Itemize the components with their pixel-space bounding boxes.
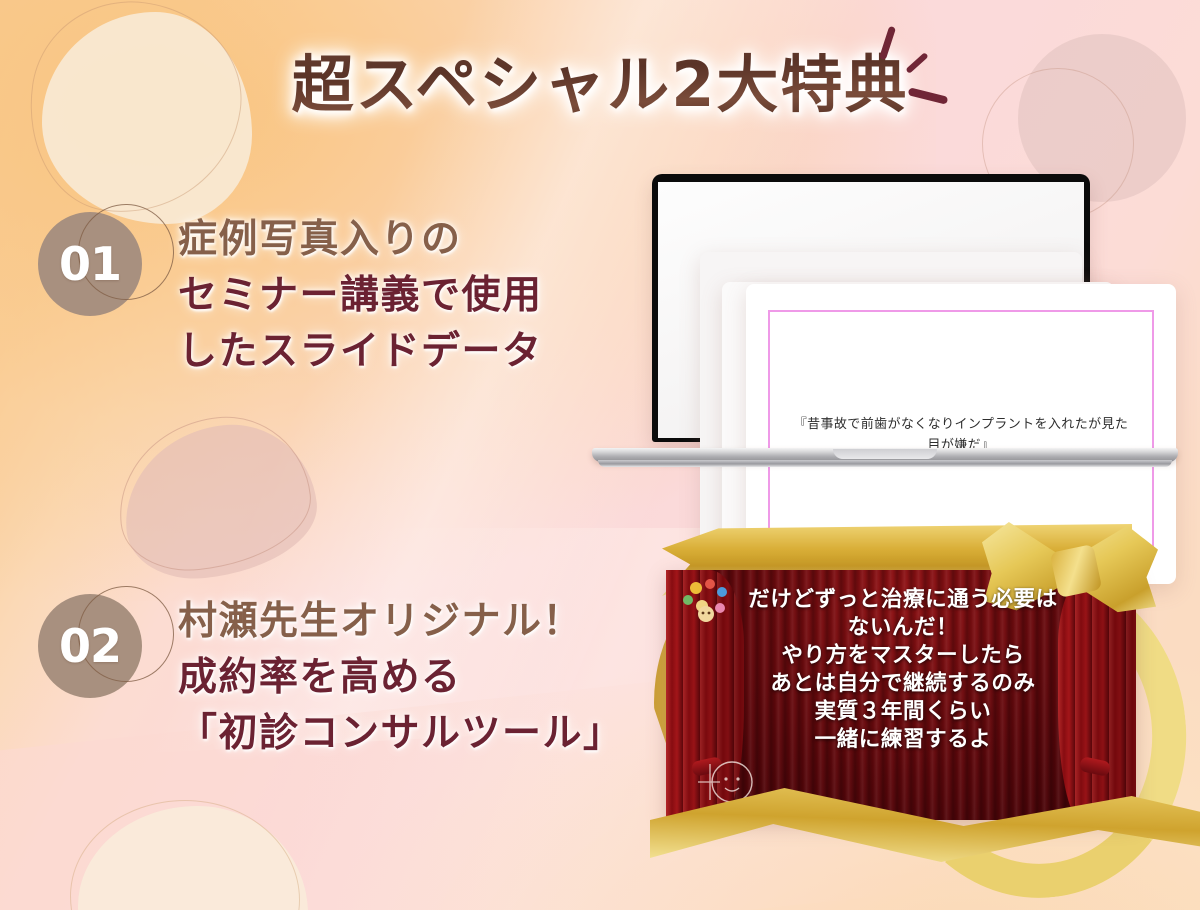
- benefit-line: 「初診コンサルツール」: [178, 706, 624, 762]
- benefit-line: セミナー講義で使用: [178, 268, 543, 324]
- benefit-item-02: 02 村瀬先生オリジナル！ 成約率を高める 「初診コンサルツール」: [34, 588, 624, 761]
- card-line: 実質３年間くらい: [718, 698, 1088, 726]
- promo-banner: 超スペシャル2大特典 01 症例写真入りの セミナー講義で使用 したスライドデー…: [0, 0, 1200, 910]
- benefit-number-badge-01: 01: [34, 206, 160, 332]
- benefit-text-02: 村瀬先生オリジナル！ 成約率を高める 「初診コンサルツール」: [178, 588, 624, 761]
- red-curtain-card: だけどずっと治療に通う必要は ないんだ！ やり方をマスターしたら あとは自分で継…: [666, 570, 1136, 820]
- gift-card-illustration: だけどずっと治療に通う必要は ないんだ！ やり方をマスターしたら あとは自分で継…: [636, 508, 1200, 888]
- benefit-number-badge-02: 02: [34, 588, 160, 714]
- badge-number: 02: [38, 594, 142, 698]
- blob-outline: [111, 408, 318, 577]
- gift-card-message: だけどずっと治療に通う必要は ないんだ！ やり方をマスターしたら あとは自分で継…: [718, 586, 1088, 754]
- badge-number: 01: [38, 212, 142, 316]
- decorative-blob-bean: [118, 418, 310, 568]
- card-line: だけどずっと治療に通う必要は: [718, 586, 1088, 614]
- benefit-line: 成約率を高める: [178, 650, 624, 706]
- benefit-line: 村瀬先生オリジナル！: [178, 594, 624, 650]
- laptop-base-edge: [598, 460, 1172, 467]
- card-line: ないんだ！: [718, 614, 1088, 642]
- benefit-line: 症例写真入りの: [178, 212, 543, 268]
- laptop-base-notch: [833, 449, 937, 459]
- decorative-blob-top-left: [32, 6, 242, 218]
- card-line: あとは自分で継続するのみ: [718, 670, 1088, 698]
- decorative-blob-bottom-left: [70, 800, 300, 910]
- blob-outline: [70, 800, 300, 910]
- benefit-text-01: 症例写真入りの セミナー講義で使用 したスライドデータ: [178, 206, 543, 379]
- benefit-item-01: 01 症例写真入りの セミナー講義で使用 したスライドデータ: [34, 206, 543, 379]
- card-line: やり方をマスターしたら: [718, 642, 1088, 670]
- benefit-line: したスライドデータ: [178, 324, 543, 380]
- laptop-base: [592, 448, 1178, 470]
- card-line: 一緒に練習するよ: [718, 726, 1088, 754]
- laptop-illustration: 『昔事故で前歯がなくなりインプラントを入れたが見た目が嫌だ』: [592, 132, 1200, 480]
